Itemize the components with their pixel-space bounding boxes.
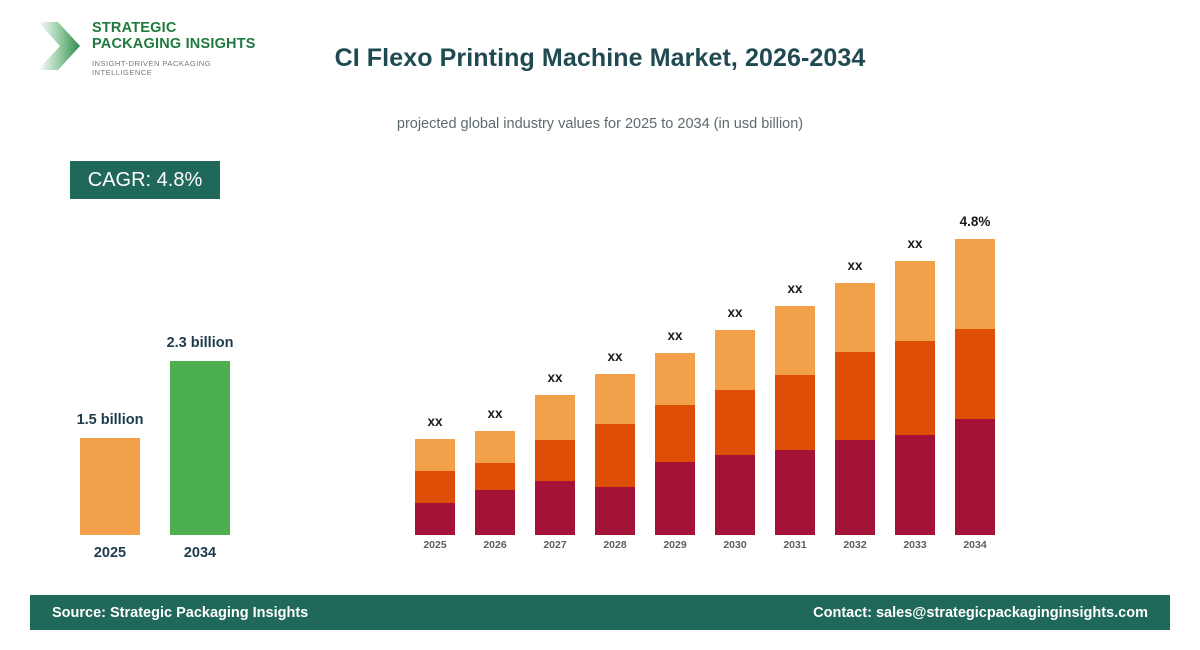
stacked-value-label-2032: xx (810, 258, 900, 273)
endpoint-bar-2034 (170, 361, 230, 535)
page-title: CI Flexo Printing Machine Market, 2026-2… (300, 44, 900, 73)
stacked-bar-2030-segment-1 (715, 455, 755, 535)
stacked-bar-2025-segment-2 (415, 471, 455, 503)
stacked-bar-2032-segment-3 (835, 283, 875, 352)
stacked-bar-2033-segment-3 (895, 261, 935, 341)
stacked-bar-2029 (655, 353, 695, 535)
stacked-bar-2029-segment-3 (655, 353, 695, 405)
stacked-bar-2025-segment-1 (415, 503, 455, 535)
stacked-bar-2034-segment-2 (955, 329, 995, 419)
footer-contact: Contact: sales@strategicpackaginginsight… (813, 595, 1148, 630)
endpoint-value-label-2025: 1.5 billion (40, 412, 180, 428)
stacked-bar-2031-segment-1 (775, 450, 815, 535)
stacked-bar-2031 (775, 306, 815, 535)
brand-tagline: INSIGHT-DRIVEN PACKAGING INTELLIGENCE (92, 59, 260, 77)
stacked-bar-2033-segment-2 (895, 341, 935, 435)
stacked-bar-2031-segment-2 (775, 375, 815, 450)
stacked-bar-2032 (835, 283, 875, 535)
stacked-value-label-2026: xx (450, 406, 540, 421)
stacked-bar-2030-segment-2 (715, 390, 755, 455)
stacked-bar-2027 (535, 395, 575, 535)
stacked-bar-2034-segment-3 (955, 239, 995, 329)
stacked-bar-2033-segment-1 (895, 435, 935, 535)
footer-source: Source: Strategic Packaging Insights (52, 595, 308, 630)
stacked-bar-2029-segment-2 (655, 405, 695, 462)
stacked-bar-2028-segment-2 (595, 424, 635, 487)
stacked-bar-2032-segment-1 (835, 440, 875, 535)
stacked-value-label-2031: xx (750, 281, 840, 296)
stacked-bar-2028-segment-3 (595, 374, 635, 424)
stacked-bar-2026-segment-2 (475, 463, 515, 490)
stacked-bar-2027-segment-2 (535, 440, 575, 481)
stacked-bar-2033 (895, 261, 935, 535)
stacked-bar-2034 (955, 239, 995, 535)
endpoint-bar-2025 (80, 438, 140, 535)
stacked-value-label-2033: xx (870, 236, 960, 251)
chevron-right-logo-icon (36, 20, 84, 72)
stacked-value-label-2028: xx (570, 349, 660, 364)
endpoint-value-label-2034: 2.3 billion (130, 335, 270, 351)
stacked-bar-2026-segment-1 (475, 490, 515, 535)
stacked-bar-2025-segment-3 (415, 439, 455, 471)
stacked-axis-label-2034: 2034 (930, 539, 1020, 551)
stacked-value-label-2030: xx (690, 305, 780, 320)
stacked-bar-2030-segment-3 (715, 330, 755, 390)
stacked-bar-2028-segment-1 (595, 487, 635, 535)
brand-name-line1: STRATEGIC (92, 21, 260, 37)
stacked-value-label-2034: 4.8% (930, 214, 1020, 229)
stacked-bar-2026 (475, 431, 515, 535)
stacked-bar-2026-segment-3 (475, 431, 515, 463)
footer-bar: Source: Strategic Packaging Insights Con… (30, 595, 1170, 630)
cagr-badge: CAGR: 4.8% (70, 161, 220, 199)
stacked-bar-2030 (715, 330, 755, 535)
stacked-value-label-2027: xx (510, 370, 600, 385)
endpoint-axis-label-2034: 2034 (130, 545, 270, 561)
infographic-canvas: STRATEGIC PACKAGING INSIGHTS INSIGHT-DRI… (0, 0, 1200, 650)
stacked-bar-2028 (595, 374, 635, 535)
stacked-bar-2034-segment-1 (955, 419, 995, 535)
stacked-bar-2027-segment-1 (535, 481, 575, 535)
brand-logo-text: STRATEGIC PACKAGING INSIGHTS INSIGHT-DRI… (92, 21, 260, 77)
brand-logo: STRATEGIC PACKAGING INSIGHTS INSIGHT-DRI… (30, 16, 260, 76)
stacked-bar-2031-segment-3 (775, 306, 815, 375)
brand-name-line2: PACKAGING INSIGHTS (92, 37, 260, 53)
stacked-value-label-2029: xx (630, 328, 720, 343)
page-subtitle: projected global industry values for 202… (300, 116, 900, 132)
stacked-bar-2027-segment-3 (535, 395, 575, 440)
stacked-bar-2032-segment-2 (835, 352, 875, 440)
stacked-bar-2029-segment-1 (655, 462, 695, 535)
stacked-bar-2025 (415, 439, 455, 535)
